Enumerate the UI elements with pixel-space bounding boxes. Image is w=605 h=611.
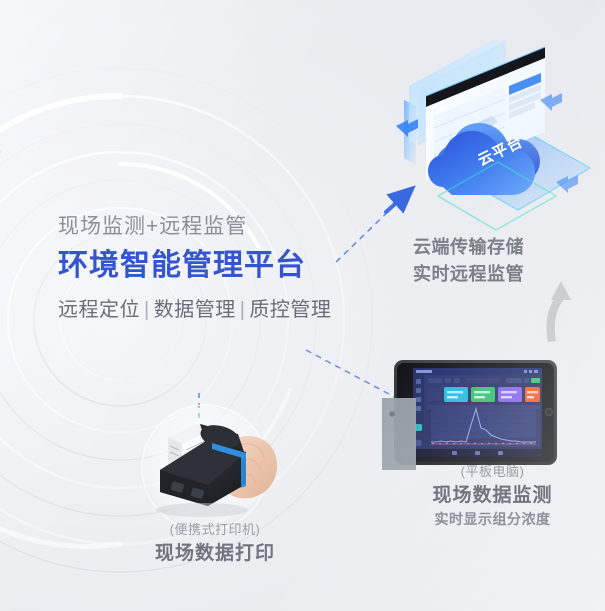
- tablet-caption-small: (平板电脑): [385, 462, 600, 482]
- cloud-copy-block: 云端传输存储 实时远程监管: [413, 234, 583, 288]
- page-title: 环境智能管理平台: [58, 248, 388, 284]
- printer-caption: (便携式打印机) 现场数据打印: [95, 520, 335, 567]
- headline-kicker: 现场监测+远程监管: [58, 214, 388, 240]
- headline-subitems: 远程定位|数据管理|质控管理: [58, 293, 388, 322]
- tablet-caption-mid: 实时显示组分浓度: [385, 509, 600, 530]
- tablet-caption-big: 现场数据监测: [385, 482, 600, 510]
- tablet-caption: (平板电脑) 现场数据监测 实时显示组分浓度: [385, 462, 600, 530]
- cloud-monitor: [404, 38, 545, 181]
- cloud-platform-graphic: 云平台: [396, 38, 590, 230]
- sub-separator-0: |: [140, 299, 154, 321]
- headline-block: 现场监测+远程监管 环境智能管理平台 远程定位|数据管理|质控管理: [58, 214, 388, 322]
- printer-device: [142, 405, 277, 531]
- tablet-stat-cards: [444, 387, 540, 402]
- cloud-shape: 云平台: [428, 123, 556, 230]
- tablet-device: [382, 360, 557, 470]
- printer-caption-big: 现场数据打印: [95, 540, 335, 568]
- dashed-arrow-down: [306, 350, 404, 402]
- cloud-copy-line1: 云端传输存储: [413, 234, 583, 261]
- cloud-copy-line2: 实时远程监管: [413, 261, 583, 288]
- printed-receipt: [168, 424, 212, 466]
- sub-item-0: 远程定位: [58, 299, 140, 321]
- cloud-label: 云平台: [475, 132, 526, 169]
- sub-separator-1: |: [236, 299, 250, 321]
- curved-arrow-up: [547, 281, 572, 342]
- sub-item-2: 质控管理: [249, 299, 331, 321]
- sub-item-1: 数据管理: [154, 299, 236, 321]
- poster-canvas: 云平台: [0, 0, 605, 611]
- printer-caption-small: (便携式打印机): [95, 520, 335, 540]
